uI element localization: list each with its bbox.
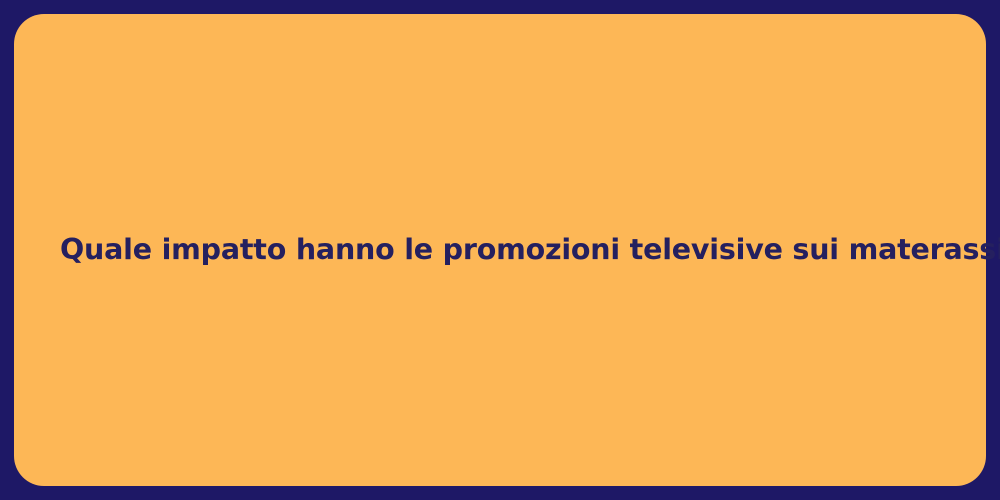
page-title: Quale impatto hanno le promozioni televi…	[60, 232, 940, 268]
headline-container: Quale impatto hanno le promozioni televi…	[14, 232, 986, 268]
outer-frame: Quale impatto hanno le promozioni televi…	[0, 0, 1000, 500]
headline-card: Quale impatto hanno le promozioni televi…	[14, 14, 986, 486]
